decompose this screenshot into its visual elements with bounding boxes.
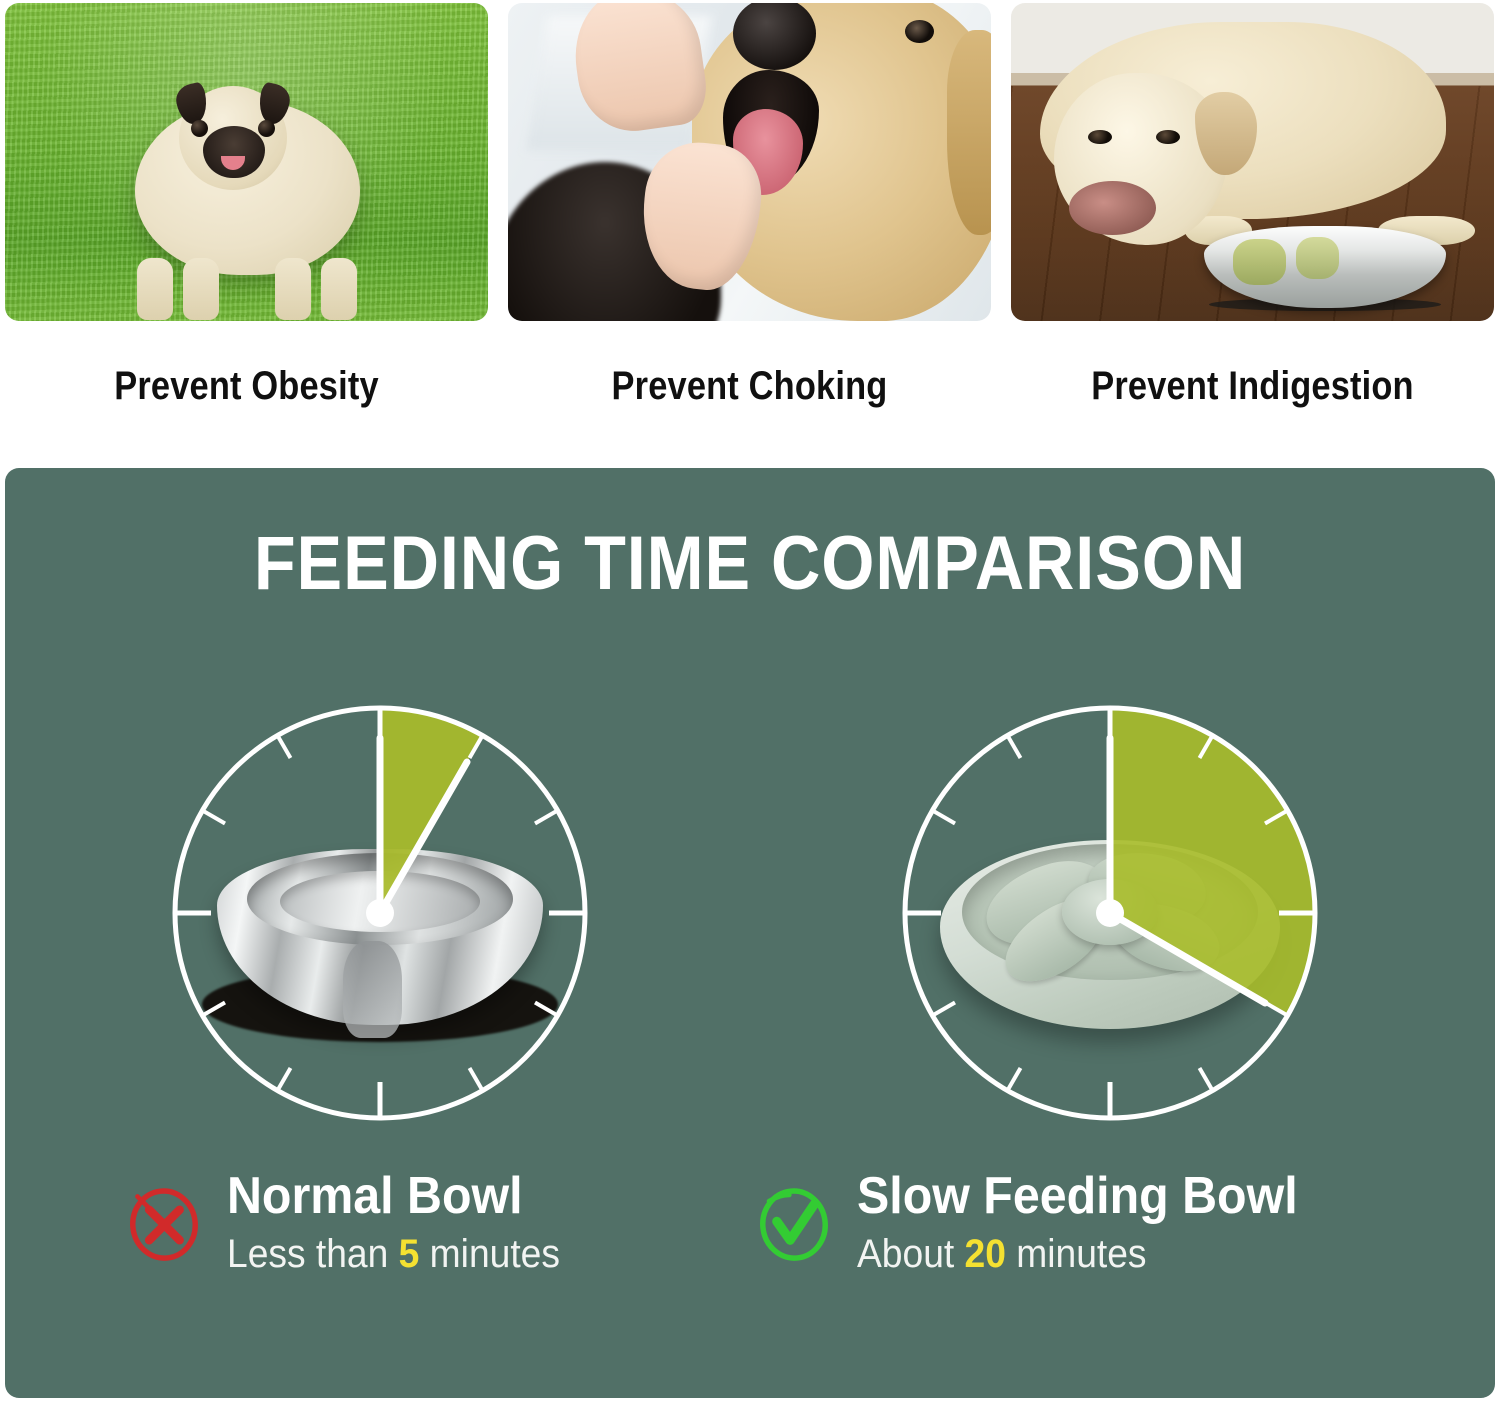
photo-card-choking	[508, 3, 991, 321]
x-circle-icon	[125, 1184, 203, 1262]
labrador-snout	[1069, 181, 1156, 235]
pug-illustration	[117, 82, 377, 312]
normal-sub-prefix: Less than	[227, 1232, 399, 1276]
pug-head	[179, 86, 287, 190]
photo-card-obesity	[5, 3, 488, 321]
pug-muzzle	[203, 126, 265, 178]
comparison-panel: FEEDING TIME COMPARISON	[5, 468, 1495, 1398]
normal-bowl-title: Normal Bowl	[227, 1168, 560, 1224]
steel-bowl-photo	[1204, 226, 1446, 309]
photo-overweight-pug	[5, 3, 488, 321]
retriever-eye	[905, 20, 934, 43]
pug-leg	[321, 258, 357, 320]
photo-card-indigestion	[1011, 3, 1494, 321]
clock-center-hub	[1096, 899, 1124, 927]
normal-bowl-subtitle: Less than 5 minutes	[227, 1230, 560, 1278]
pug-eye	[191, 120, 208, 137]
pug-leg	[275, 258, 311, 320]
caption-prevent-choking: Prevent Choking	[542, 338, 957, 434]
pug-eye	[258, 120, 275, 137]
normal-sub-value: 5	[399, 1232, 420, 1276]
pug-leg	[183, 258, 219, 320]
slow-bowl-subtitle: About 20 minutes	[857, 1230, 1298, 1278]
clock-face-slow	[875, 678, 1345, 1148]
panel-title: FEEDING TIME COMPARISON	[80, 520, 1421, 607]
photo-dog-mouth-check	[508, 3, 991, 321]
clock-center-hub	[366, 899, 394, 927]
label-slow-bowl: Slow Feeding Bowl About 20 minutes	[755, 1168, 1331, 1278]
slow-sub-suffix: minutes	[1006, 1232, 1147, 1276]
comparison-labels: Normal Bowl Less than 5 minutes Slow Fee…	[5, 1168, 1495, 1328]
normal-sub-suffix: minutes	[419, 1232, 560, 1276]
clock-face-normal	[145, 678, 615, 1148]
clock-row	[5, 678, 1495, 1148]
check-circle-icon	[755, 1184, 833, 1262]
caption-prevent-indigestion: Prevent Indigestion	[1045, 338, 1460, 434]
photo-captions: Prevent Obesity Prevent Choking Prevent …	[5, 338, 1495, 434]
clock-normal-bowl	[145, 678, 615, 1148]
slow-bowl-title: Slow Feeding Bowl	[857, 1168, 1298, 1224]
clock-slow-bowl	[875, 678, 1345, 1148]
slow-sub-prefix: About	[857, 1232, 965, 1276]
photo-strip	[5, 3, 1495, 323]
bowl-food	[1233, 239, 1286, 285]
caption-prevent-obesity: Prevent Obesity	[39, 338, 454, 434]
slow-sub-value: 20	[965, 1232, 1006, 1276]
bowl-food	[1296, 237, 1339, 278]
retriever-ear	[947, 30, 991, 235]
photo-labrador-by-bowl	[1011, 3, 1494, 321]
retriever-nose	[733, 3, 816, 70]
pug-leg	[137, 258, 173, 320]
label-normal-bowl: Normal Bowl Less than 5 minutes	[125, 1168, 585, 1278]
infographic-page: Prevent Obesity Prevent Choking Prevent …	[0, 0, 1500, 1405]
pug-tongue	[221, 156, 245, 170]
